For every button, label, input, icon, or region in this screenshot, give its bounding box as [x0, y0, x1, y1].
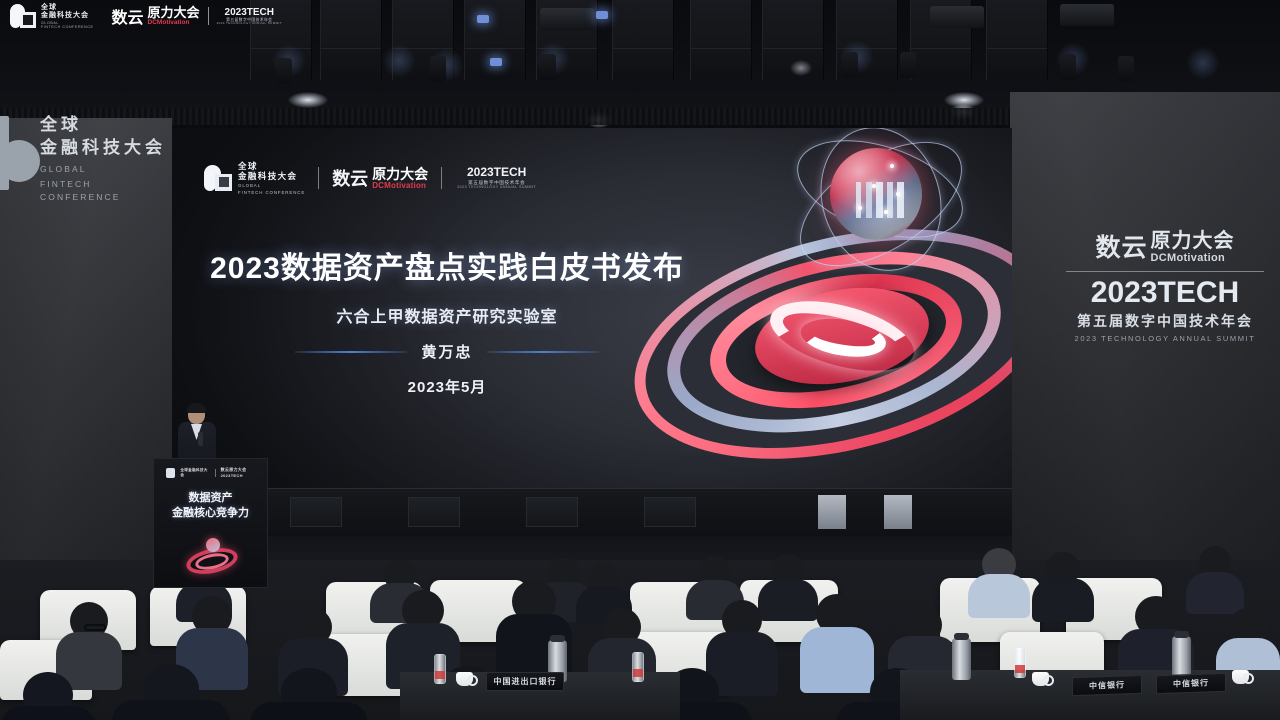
screen-title-block: 2023数据资产盘点实践白皮书发布 六合上甲数据资产研究实验室 黄万忠 2023… — [192, 243, 702, 397]
conference-photo-scene: 全球 金融科技大会 GLOBAL FINTECH CONFERENCE 数云 原… — [0, 0, 1280, 720]
tea-cup — [1032, 672, 1049, 686]
stage-right-wall — [1010, 92, 1280, 617]
nameplate-label: 中信银行 — [1173, 677, 1209, 689]
wall-left-en-line1: GLOBAL — [40, 163, 172, 175]
tea-cup — [1232, 670, 1249, 684]
audience-member — [968, 548, 1030, 610]
wall-left-cn-line2: 金融科技大会 — [40, 137, 172, 160]
screen-logo-divider-2 — [441, 167, 442, 189]
water-bottle — [434, 654, 446, 684]
podium-artwork-swirl — [186, 537, 238, 577]
wall-left-en-line2: FINTECH CONFERENCE — [40, 178, 172, 203]
overlay-gfc-cn1: 全球 — [41, 4, 94, 12]
screen-rule-left — [295, 351, 407, 353]
water-bottle — [1014, 648, 1026, 678]
table-nameplate: 中信银行 — [1156, 673, 1226, 694]
data-sphere — [830, 148, 922, 240]
wall-logo-dcmotivation: 数云 原力大会 DCMotivation 2023TECH 第五届数字中国技术年… — [1062, 228, 1268, 343]
screen-logo-dcm: 数云 原力大会 DCMotivation — [332, 165, 428, 191]
screen-dcm-title: 原力大会 — [372, 167, 428, 181]
audience-member — [112, 664, 230, 720]
overlay-gfc-en2: FINTECH CONFERENCE — [41, 25, 94, 29]
podium-gfc-mark-icon — [166, 468, 175, 478]
main-led-screen: 全球 金融科技大会 GLOBAL FINTECH CONFERENCE 数云 原… — [172, 128, 1012, 488]
overlay-logo-gfc: 全球 金融科技大会 GLOBAL FINTECH CONFERENCE — [10, 4, 94, 29]
screen-dcm-en: DCMotivation — [372, 182, 428, 190]
podium-title-line1: 数据资产 — [154, 491, 267, 506]
screen-title: 2023数据资产盘点实践白皮书发布 — [192, 243, 702, 287]
table-nameplate: 中国进出口银行 — [486, 672, 564, 691]
screen-logo-divider-1 — [318, 167, 319, 189]
overlay-gfc-cn2: 金融科技大会 — [41, 12, 94, 20]
wall-right-en-title: DCMotivation — [1151, 253, 1235, 264]
screen-date: 2023年5月 — [192, 376, 702, 397]
audience-member — [1186, 546, 1244, 606]
screen-logo-gfc: 全球 金融科技大会 GLOBAL FINTECH CONFERENCE — [204, 162, 305, 195]
overlay-divider — [208, 7, 209, 25]
audience-member — [250, 668, 368, 720]
screen-tech-en: 2023 TECHNOLOGY ANNUAL SUMMIT — [457, 186, 536, 190]
screen-dcm-cn: 数云 — [332, 165, 368, 191]
screen-tech-year: 2023TECH — [457, 166, 536, 179]
wall-right-divider — [1066, 271, 1264, 272]
wall-right-year-tech: 2023TECH — [1062, 278, 1268, 308]
overlay-tech-en: 2023 TECHNOLOGY ANNUAL SUMMIT — [217, 22, 282, 25]
podium-title-line2: 金融核心竞争力 — [154, 506, 267, 521]
wall-right-cn-sub: 第五届数字中国技术年会 — [1062, 311, 1268, 331]
screen-gfc-en2: FINTECH CONFERENCE — [238, 190, 305, 195]
screen-gfc-cn2: 金融科技大会 — [238, 172, 305, 182]
wall-right-title: 原力大会 — [1151, 231, 1235, 251]
overlay-tech-year: 2023TECH — [217, 7, 282, 18]
overlay-dcm-en: DCMotivation — [148, 20, 200, 27]
overlay-dcm-brand: 数云 — [112, 4, 144, 28]
nameplate-label: 中信银行 — [1089, 679, 1125, 691]
screen-rule-right — [487, 351, 599, 353]
gfc-bug-icon — [10, 4, 36, 28]
overlay-logo-dcm: 数云 原力大会 DCMotivation 2023TECH 第五届数字中国技术年… — [112, 4, 282, 28]
gfc-mark-icon — [204, 165, 232, 191]
wall-left-cn-line1: 全球 — [40, 114, 172, 137]
thermos-flask — [1172, 636, 1191, 678]
screen-header-logos: 全球 金融科技大会 GLOBAL FINTECH CONFERENCE 数云 原… — [204, 162, 536, 195]
thermos-flask — [952, 638, 971, 680]
podium-logo-row: 全球金融科技大会 数云原力大会 2023TECH — [166, 467, 267, 478]
audience-member — [0, 672, 96, 720]
screen-gfc-en1: GLOBAL — [238, 183, 305, 188]
wall-right-brand: 数云 — [1095, 228, 1147, 264]
table-nameplate: 中信银行 — [1072, 675, 1142, 696]
screen-logo-tech: 2023TECH 第五届数字中国技术年会 2023 TECHNOLOGY ANN… — [457, 166, 536, 190]
overlay-dcm-title: 原力大会 — [148, 6, 200, 19]
podium-logo-cn: 全球金融科技大会 — [180, 468, 209, 478]
wall-right-en-sub: 2023 TECHNOLOGY ANNUAL SUMMIT — [1062, 334, 1268, 343]
nameplate-label: 中国进出口银行 — [494, 676, 557, 687]
stage-apron — [172, 488, 1012, 536]
water-bottle — [632, 652, 644, 682]
tea-cup — [456, 672, 473, 686]
podium-lectern: 全球金融科技大会 数云原力大会 2023TECH 数据资产 金融核心竞争力 — [153, 458, 268, 588]
audience-member — [1032, 552, 1094, 614]
podium-logo-cn2: 数云原力大会 2023TECH — [221, 467, 267, 478]
speaker-presenter — [176, 404, 218, 464]
broadcast-overlay-bar: 全球 金融科技大会 GLOBAL FINTECH CONFERENCE 数云 原… — [10, 4, 282, 29]
screen-subtitle: 六合上甲数据资产研究实验室 — [192, 303, 702, 327]
podium-title-block: 数据资产 金融核心竞争力 — [154, 491, 267, 521]
screen-presenter-name: 黄万忠 — [421, 341, 472, 362]
handheld-microphone-icon — [198, 432, 203, 446]
